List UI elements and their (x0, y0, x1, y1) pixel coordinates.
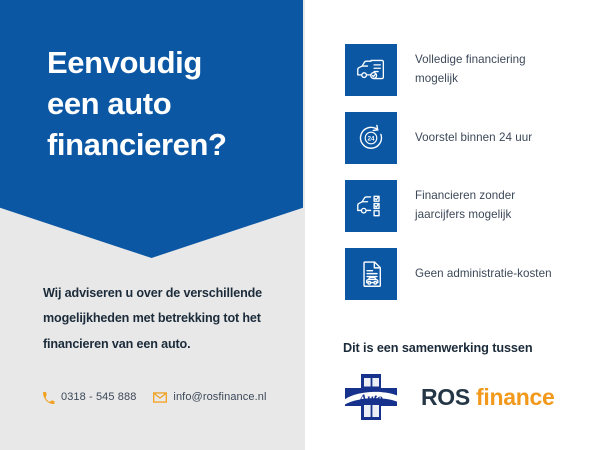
feature-item-24h: 24 Voorstel binnen 24 uur (345, 112, 555, 164)
svg-text:24: 24 (368, 135, 375, 142)
promo-banner: Eenvoudig een auto financieren? Wij advi… (0, 0, 600, 450)
contact-row: 0318 - 545 888 info@rosfinance.nl (41, 390, 267, 404)
partnership-block: Dit is een samenwerking tussen Auto ROS … (343, 341, 554, 422)
24-hour-clock-icon: 24 (345, 112, 397, 164)
partner-logos: Auto ROS finance (343, 372, 554, 422)
svg-text:Auto: Auto (358, 391, 383, 405)
ros-logo-primary: ROS (421, 384, 470, 410)
ros-logo-secondary: finance (476, 384, 554, 410)
feature-label: Volledige financiering mogelijk (415, 51, 555, 89)
ros-finance-logo: ROS finance (421, 384, 554, 411)
contact-email[interactable]: info@rosfinance.nl (153, 390, 266, 404)
email-address: info@rosfinance.nl (173, 391, 266, 403)
advice-paragraph: Wij adviseren u over de verschillende mo… (43, 281, 275, 357)
envelope-icon (153, 390, 167, 404)
headline-line-2: een auto (47, 83, 287, 124)
feature-label: Financieren zonder jaarcijfers mogelijk (415, 187, 555, 225)
feature-list: Volledige financiering mogelijk 24 Voors… (345, 44, 555, 316)
phone-icon (41, 390, 55, 404)
left-panel: Eenvoudig een auto financieren? Wij advi… (0, 0, 305, 450)
car-checklist-icon (345, 180, 397, 232)
feature-item-financing: Volledige financiering mogelijk (345, 44, 555, 96)
partnership-title: Dit is een samenwerking tussen (343, 341, 554, 355)
document-car-icon (345, 248, 397, 300)
contact-phone[interactable]: 0318 - 545 888 (41, 390, 136, 404)
phone-number: 0318 - 545 888 (61, 391, 136, 403)
page-title: Eenvoudig een auto financieren? (47, 42, 287, 166)
car-document-icon (345, 44, 397, 96)
auto-cross-logo: Auto (343, 372, 399, 422)
feature-item-no-admin-costs: Geen administratie-kosten (345, 248, 555, 300)
headline-line-1: Eenvoudig (47, 42, 287, 83)
feature-label: Geen administratie-kosten (415, 265, 555, 284)
headline-line-3: financieren? (47, 124, 287, 165)
feature-label: Voorstel binnen 24 uur (415, 129, 555, 148)
feature-item-no-annual-figures: Financieren zonder jaarcijfers mogelijk (345, 180, 555, 232)
right-panel: Volledige financiering mogelijk 24 Voors… (305, 0, 600, 450)
